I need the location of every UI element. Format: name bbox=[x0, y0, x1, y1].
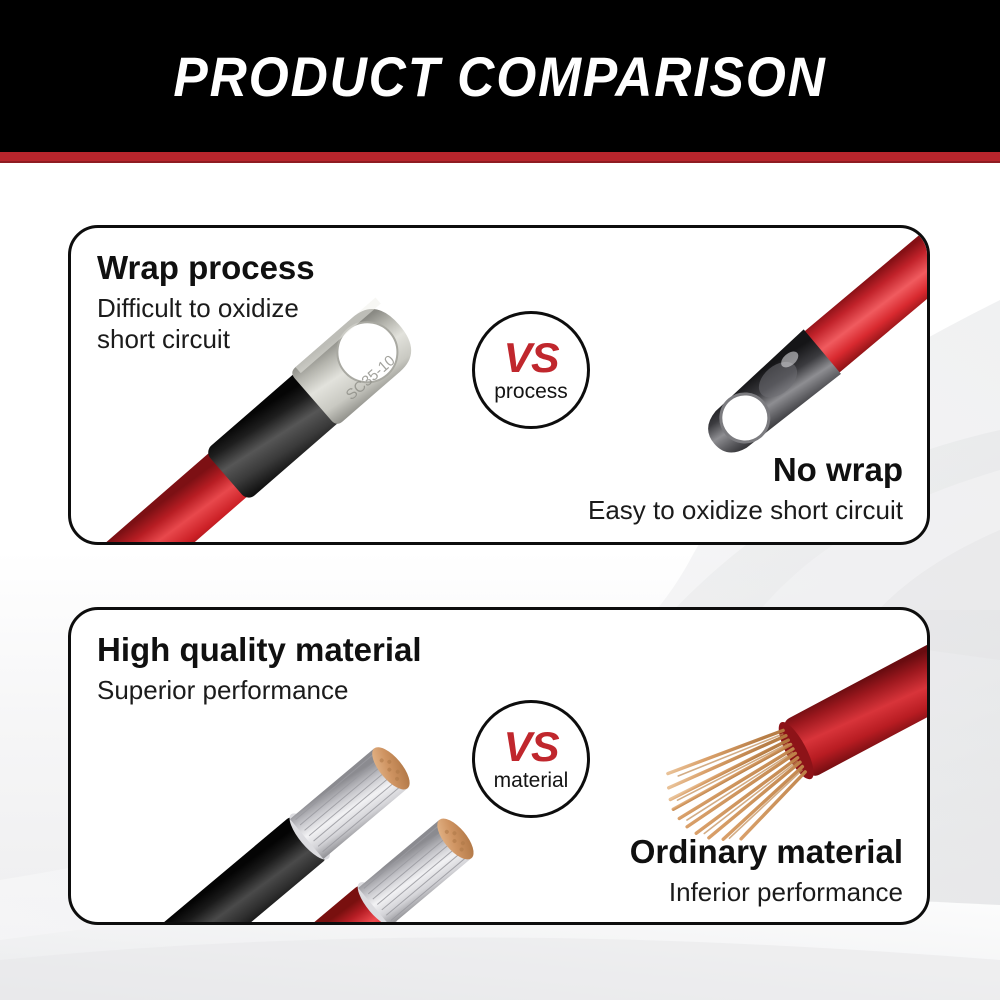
vs-category-label: process bbox=[494, 381, 568, 402]
card1-left-subheading: Difficult to oxidize short circuit bbox=[97, 293, 315, 354]
card2-right-subheading: Inferior performance bbox=[630, 877, 903, 908]
card2-left-subheading: Superior performance bbox=[97, 675, 422, 706]
vs-label: VS bbox=[503, 727, 558, 767]
vs-category-label: material bbox=[494, 770, 569, 791]
card1-right-text: No wrap Easy to oxidize short circuit bbox=[588, 452, 903, 526]
vs-badge-process: VS process bbox=[472, 311, 590, 429]
bare-ring-lug-image bbox=[637, 228, 927, 468]
card1-left-text: Wrap process Difficult to oxidize short … bbox=[97, 250, 315, 355]
card2-right-heading: Ordinary material bbox=[630, 834, 903, 870]
header-accent-stripe bbox=[0, 152, 1000, 163]
card1-right-heading: No wrap bbox=[588, 452, 903, 488]
bare-copper-cable-image bbox=[631, 610, 927, 856]
tinned-copper-cables-image bbox=[121, 688, 521, 922]
card2-left-text: High quality material Superior performan… bbox=[97, 632, 422, 706]
vs-badge-material: VS material bbox=[472, 700, 590, 818]
card1-right-subheading: Easy to oxidize short circuit bbox=[588, 495, 903, 526]
card2-left-heading: High quality material bbox=[97, 632, 422, 668]
card2-right-text: Ordinary material Inferior performance bbox=[630, 834, 903, 908]
header-banner: PRODUCT COMPARISON bbox=[0, 0, 1000, 152]
product-comparison-graphic: PRODUCT COMPARISON bbox=[0, 0, 1000, 1000]
page-title: PRODUCT COMPARISON bbox=[173, 44, 826, 109]
svg-text:SC35-10: SC35-10 bbox=[343, 352, 399, 404]
vs-label: VS bbox=[503, 338, 558, 378]
card1-left-heading: Wrap process bbox=[97, 250, 315, 286]
